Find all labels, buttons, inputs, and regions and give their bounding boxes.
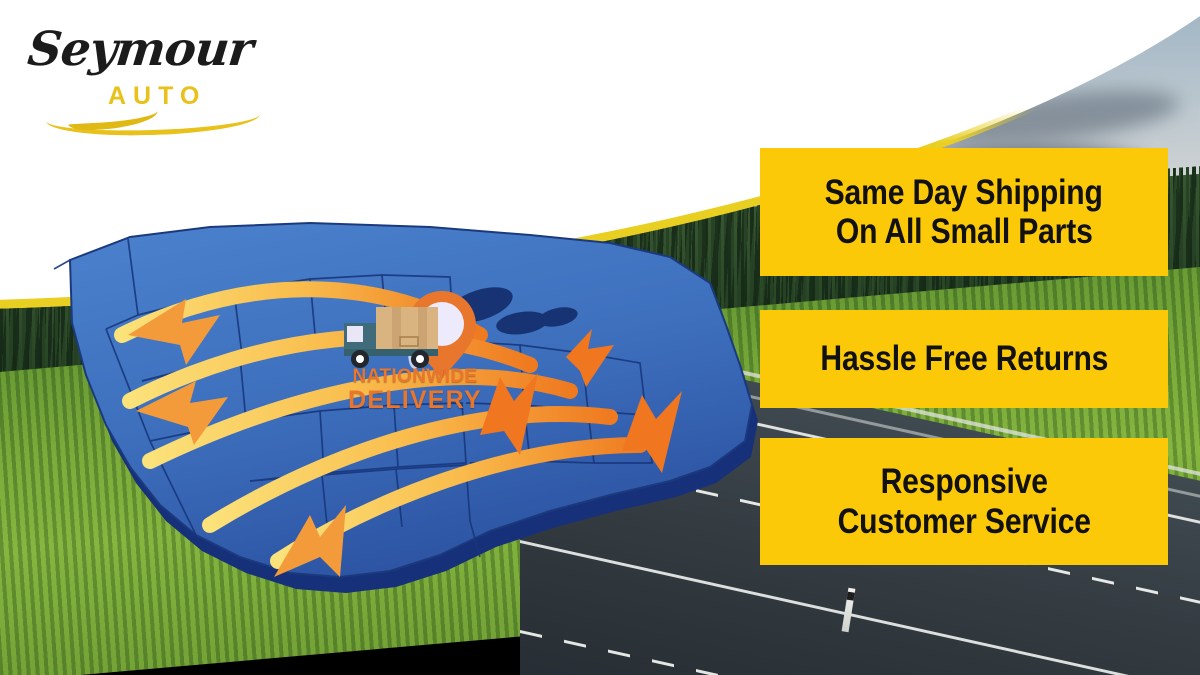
message-line: Customer Service	[837, 502, 1090, 541]
promo-banner: Seymour AUTO	[0, 0, 1200, 675]
message-line: On All Small Parts	[836, 212, 1093, 251]
badge-caption: NATIONWIDE DELIVERY	[330, 367, 500, 413]
badge-line-1: NATIONWIDE	[330, 367, 500, 387]
message-block-hassle-free-returns: Hassle Free Returns	[760, 310, 1168, 408]
message-block-same-day-shipping: Same Day Shipping On All Small Parts	[760, 148, 1168, 276]
message-line: Responsive	[880, 462, 1047, 501]
delivery-truck-icon	[344, 307, 438, 368]
message-line: Hassle Free Returns	[820, 339, 1108, 378]
brand-name: Seymour	[25, 22, 255, 77]
badge-line-2: DELIVERY	[330, 387, 500, 413]
brand-subtitle: AUTO	[108, 82, 206, 111]
nationwide-delivery-badge: NATIONWIDE DELIVERY	[330, 285, 500, 450]
message-block-responsive-customer-service: Responsive Customer Service	[760, 438, 1168, 565]
brand-logo[interactable]: Seymour AUTO	[28, 22, 268, 126]
message-line: Same Day Shipping	[825, 173, 1103, 212]
